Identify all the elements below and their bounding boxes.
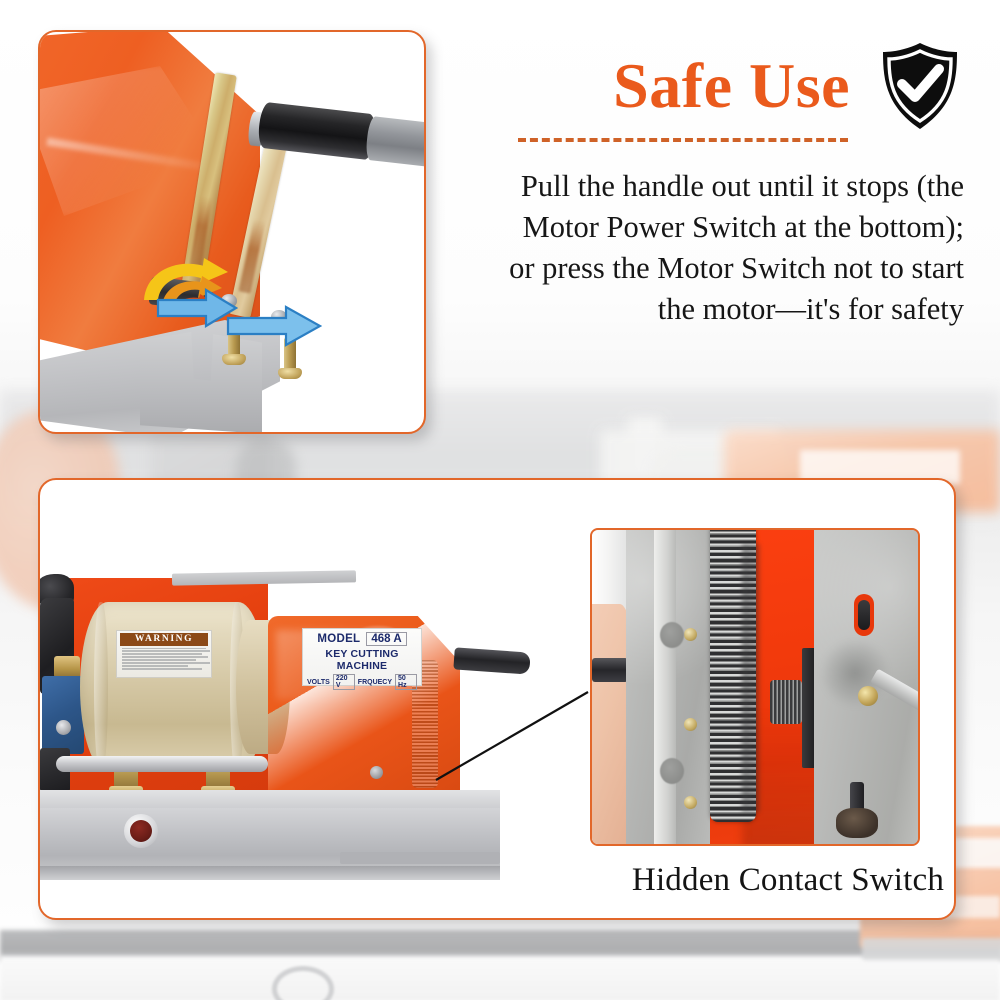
inset-caption: Hidden Contact Switch (588, 862, 956, 899)
page-title: Safe Use (613, 54, 850, 118)
description-line: Motor Power Switch at the bottom); (440, 207, 964, 248)
brass-stud (684, 628, 697, 641)
background-machine-base (862, 938, 1000, 960)
casting-dimple (660, 622, 684, 648)
blue-pull-arrow (226, 304, 322, 348)
brass-stud (684, 796, 697, 809)
brass-stud (684, 718, 697, 731)
plate-rail (654, 530, 676, 846)
brass-screw (858, 686, 878, 706)
description-line: or press the Motor Switch not to start (440, 248, 964, 289)
handle-pull-photo (40, 32, 424, 432)
key-cutting-machine-photo: WARNING (40, 480, 954, 918)
description-line: Pull the handle out until it stops (the (440, 166, 964, 207)
shield-check-icon (878, 40, 962, 132)
pinion-gear (770, 680, 802, 724)
machine-overview-panel: WARNING (38, 478, 956, 920)
description-line: the motor—it's for safety (440, 289, 964, 330)
cast-metal-plate-left (626, 530, 714, 846)
casting-dimple (660, 758, 684, 784)
black-rod (592, 658, 628, 682)
handle-pull-panel (38, 30, 426, 434)
title-row: Safe Use (440, 42, 962, 130)
header: Safe Use (440, 42, 962, 152)
shaft-collar (836, 808, 878, 838)
hidden-contact-switch-closeup (590, 528, 920, 846)
screw-head (278, 368, 302, 379)
infographic-canvas: Safe Use Pull the handle out until it st… (0, 0, 1000, 1000)
screw-head (222, 354, 246, 365)
background-bench-surface (0, 956, 1000, 1000)
gear-hub (742, 544, 760, 812)
slot-insert (858, 600, 870, 630)
title-divider (518, 138, 848, 142)
grey-grip-end (365, 116, 426, 168)
description-text: Pull the handle out until it stops (the … (440, 166, 964, 330)
